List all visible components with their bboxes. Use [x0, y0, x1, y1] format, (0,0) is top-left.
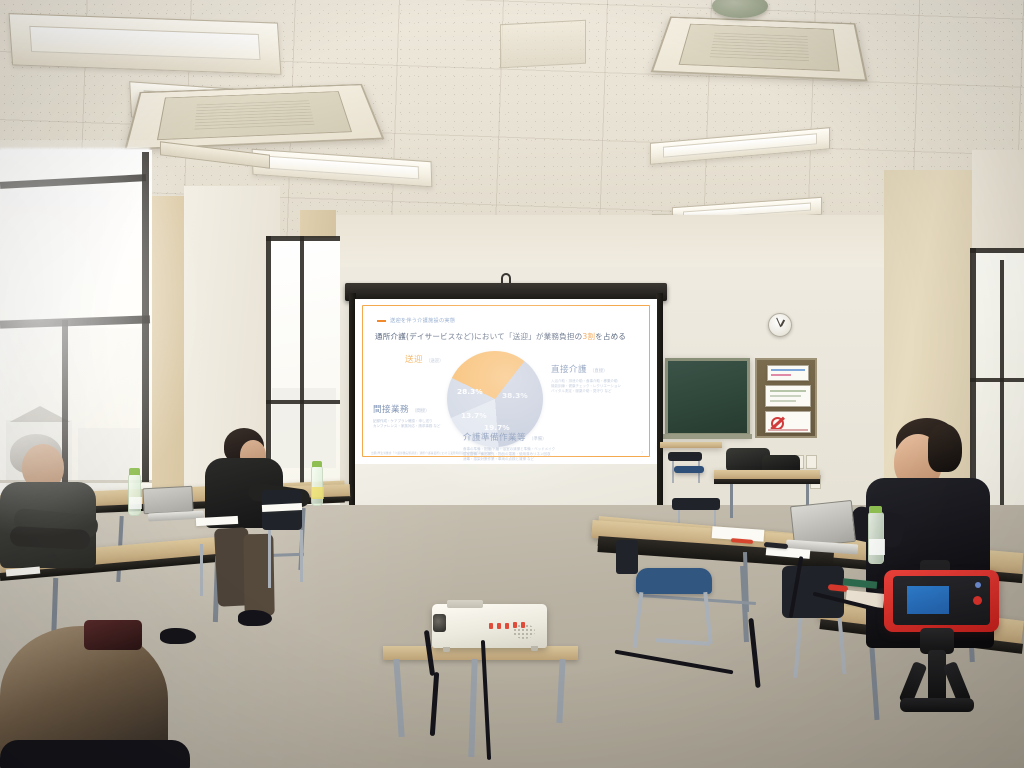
callout-kansetsu-desc: 記録作成・ケアプラン確認・申し送り カンファレンス・家族対応・請求事務 など	[373, 419, 453, 430]
notice-poster	[767, 365, 809, 381]
callout-soge-note: （送迎）	[426, 359, 444, 364]
chalk-tray	[663, 434, 752, 439]
chair-leg	[300, 530, 303, 582]
callout-junbi-note: （準備）	[529, 437, 547, 442]
bottle-cap	[129, 468, 140, 475]
chair-back-right[interactable]	[672, 498, 720, 510]
slide-headline: 通所介護(デイサービスなど)において「送迎」が業務負担の3割を占める	[375, 331, 641, 342]
table-back-right	[714, 470, 820, 479]
chair-leg	[672, 461, 674, 483]
window-frame	[970, 248, 1024, 253]
bottle-label	[312, 487, 324, 499]
projector-foot	[531, 646, 538, 651]
shoe	[238, 610, 272, 626]
slide-footnote: 出典:厚生労働省「介護労働実態調査」通所介護事業所における業務時間割合の調査結果…	[371, 451, 492, 455]
projector-button[interactable]	[505, 623, 509, 629]
camera-preview	[907, 586, 949, 614]
projector-lens	[433, 614, 446, 632]
ceiling-vent	[500, 20, 586, 69]
callout-chokusetsu-title: 直接介護	[551, 365, 587, 375]
chair-leg	[200, 544, 203, 596]
callout-soge-title: 送迎	[405, 355, 423, 365]
callout-chokusetsu-note: （直接）	[590, 369, 608, 374]
projector-button[interactable]	[521, 622, 525, 628]
hair-back	[928, 424, 962, 472]
projector-button[interactable]	[497, 623, 501, 629]
chair-leg	[268, 530, 271, 588]
callout-junbi: 介護準備作業等（準備） 食事の準備・配膳/下膳・浴室の清掃と準備・ベッドメイク …	[463, 425, 593, 463]
chair-seat-back[interactable]	[674, 466, 704, 473]
callout-chokusetsu-desc: 入浴介助・排泄介助・食事介助・移乗介助 機能訓練・健康チェック・レクリエーション…	[551, 379, 649, 395]
table-back-left	[660, 442, 722, 448]
projected-slide: 送迎を伴う介護施設の実態 通所介護(デイサービスなど)において「送迎」が業務負担…	[355, 299, 657, 464]
slide-eyebrow: 送迎を伴う介護施設の実態	[377, 317, 455, 324]
water-bottle	[128, 474, 141, 516]
pie-slice-label-chokusetsu: 38.3%	[502, 391, 528, 400]
bottle-label	[129, 497, 142, 509]
smartphone-screen[interactable]	[893, 576, 990, 625]
pie-slice-label-soge: 28.3%	[457, 387, 483, 396]
table-leg	[730, 484, 733, 518]
eyebrow-dash-icon	[377, 320, 386, 322]
notice-poster	[765, 385, 811, 407]
chair-center-back[interactable]	[616, 540, 638, 574]
wall-outlet[interactable]	[806, 455, 817, 469]
ceiling-ac-unit	[124, 84, 384, 150]
projector-button[interactable]	[489, 623, 493, 629]
slide-page-number: 7	[641, 451, 643, 455]
bottle-cap	[869, 506, 882, 513]
callout-chokusetsu: 直接介護（直接） 入浴介助・排泄介助・食事介助・移乗介助 機能訓練・健康チェック…	[551, 357, 649, 395]
tripod-base	[900, 698, 974, 712]
bottle-label	[869, 539, 885, 555]
callout-kansetsu-title: 間接業務	[373, 405, 409, 415]
clock-minute-hand	[776, 317, 781, 326]
projector-top-panel	[447, 600, 483, 608]
arm-crossed	[10, 526, 91, 550]
no-smoking-sign	[765, 411, 811, 433]
seminar-room-photo: 送迎を伴う介護施設の実態 通所介護(デイサービスなど)において「送迎」が業務負担…	[0, 0, 1024, 768]
projection-surface: 送迎を伴う介護施設の実態 通所介護(デイサービスなど)において「送迎」が業務負担…	[355, 299, 657, 517]
callout-junbi-title: 介護準備作業等	[463, 433, 526, 443]
notice-corkboard	[755, 358, 817, 438]
callout-kansetsu-note: （間接）	[412, 409, 430, 414]
window-frame	[266, 400, 340, 404]
projector-button[interactable]	[513, 622, 517, 628]
bottle-cap	[312, 461, 322, 467]
callout-soge: 送迎（送迎）	[405, 347, 475, 366]
record-button-icon[interactable]	[973, 596, 982, 605]
torso	[0, 740, 190, 768]
chair-center-blue[interactable]	[636, 568, 712, 594]
window-frame	[142, 152, 149, 482]
projector-foot	[443, 647, 450, 652]
window-frame	[266, 236, 340, 241]
headline-part-2: を占める	[595, 332, 626, 341]
ceiling-light-fixture	[9, 13, 282, 75]
chair-back-left[interactable]	[668, 452, 702, 461]
bag-under-table	[84, 620, 142, 650]
laptop-screen	[142, 486, 193, 515]
tripod-leg	[928, 650, 946, 704]
status-dot-icon	[975, 582, 981, 588]
wall-clock	[768, 313, 792, 337]
ceiling-ac-unit	[651, 17, 868, 82]
water-bottle	[868, 512, 884, 564]
wall-column-left	[148, 196, 184, 526]
water-bottle	[311, 466, 323, 506]
slide-eyebrow-text: 送迎を伴う介護施設の実態	[390, 317, 455, 324]
headline-part-1: 通所介護(デイサービスなど)において「送迎」が業務負担の	[375, 332, 582, 341]
callout-kansetsu: 間接業務（間接） 記録作成・ケアプラン確認・申し送り カンファレンス・家族対応・…	[373, 397, 453, 429]
window-frame	[970, 378, 1024, 382]
pie-slice-label-kansetsu: 13.7%	[461, 411, 487, 420]
headline-highlight: 3割	[582, 332, 595, 341]
chalkboard	[665, 358, 750, 436]
back-wall-upper-band	[330, 215, 890, 267]
shoe	[160, 628, 196, 644]
